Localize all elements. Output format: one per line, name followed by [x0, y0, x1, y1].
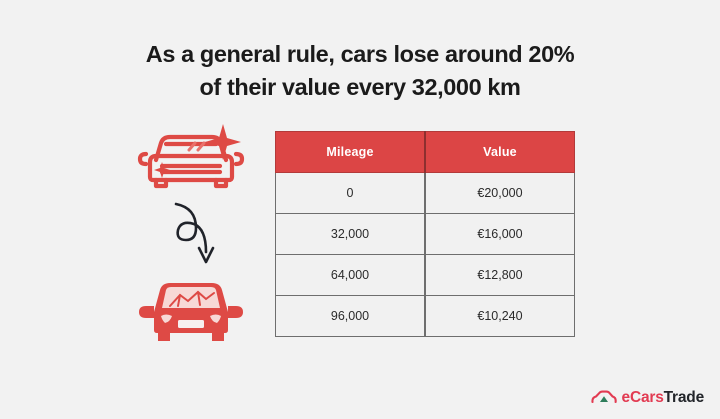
column-header-mileage: Mileage — [276, 132, 426, 173]
cell-value: €16,000 — [425, 214, 575, 255]
column-header-value: Value — [425, 132, 575, 173]
brand-name-secondary: Trade — [664, 389, 704, 406]
brand-name-primary: eCars — [622, 389, 664, 406]
illustration-column — [120, 120, 265, 350]
cell-value: €20,000 — [425, 173, 575, 214]
table-row: 0 €20,000 — [276, 173, 575, 214]
cell-mileage: 64,000 — [276, 255, 426, 296]
curved-down-arrow-icon — [158, 198, 228, 270]
cell-value: €12,800 — [425, 255, 575, 296]
shiny-new-car-icon — [132, 120, 250, 192]
cell-mileage: 0 — [276, 173, 426, 214]
table-row: 32,000 €16,000 — [276, 214, 575, 255]
car-silhouette-icon — [591, 390, 617, 405]
brand-logo-text: eCarsTrade — [622, 390, 704, 406]
cell-mileage: 96,000 — [276, 296, 426, 337]
table-header-row: Mileage Value — [276, 132, 575, 173]
page-title: As a general rule, cars lose around 20% … — [50, 38, 670, 104]
damaged-old-car-icon — [132, 268, 250, 346]
table-row: 96,000 €10,240 — [276, 296, 575, 337]
infographic-canvas: As a general rule, cars lose around 20% … — [0, 0, 720, 419]
cell-value: €10,240 — [425, 296, 575, 337]
title-line-1: As a general rule, cars lose around 20% — [50, 38, 670, 71]
cell-mileage: 32,000 — [276, 214, 426, 255]
table-row: 64,000 €12,800 — [276, 255, 575, 296]
title-line-2: of their value every 32,000 km — [50, 71, 670, 104]
depreciation-table: Mileage Value 0 €20,000 32,000 €16,000 6… — [275, 131, 575, 337]
brand-logo[interactable]: eCarsTrade — [591, 390, 704, 406]
